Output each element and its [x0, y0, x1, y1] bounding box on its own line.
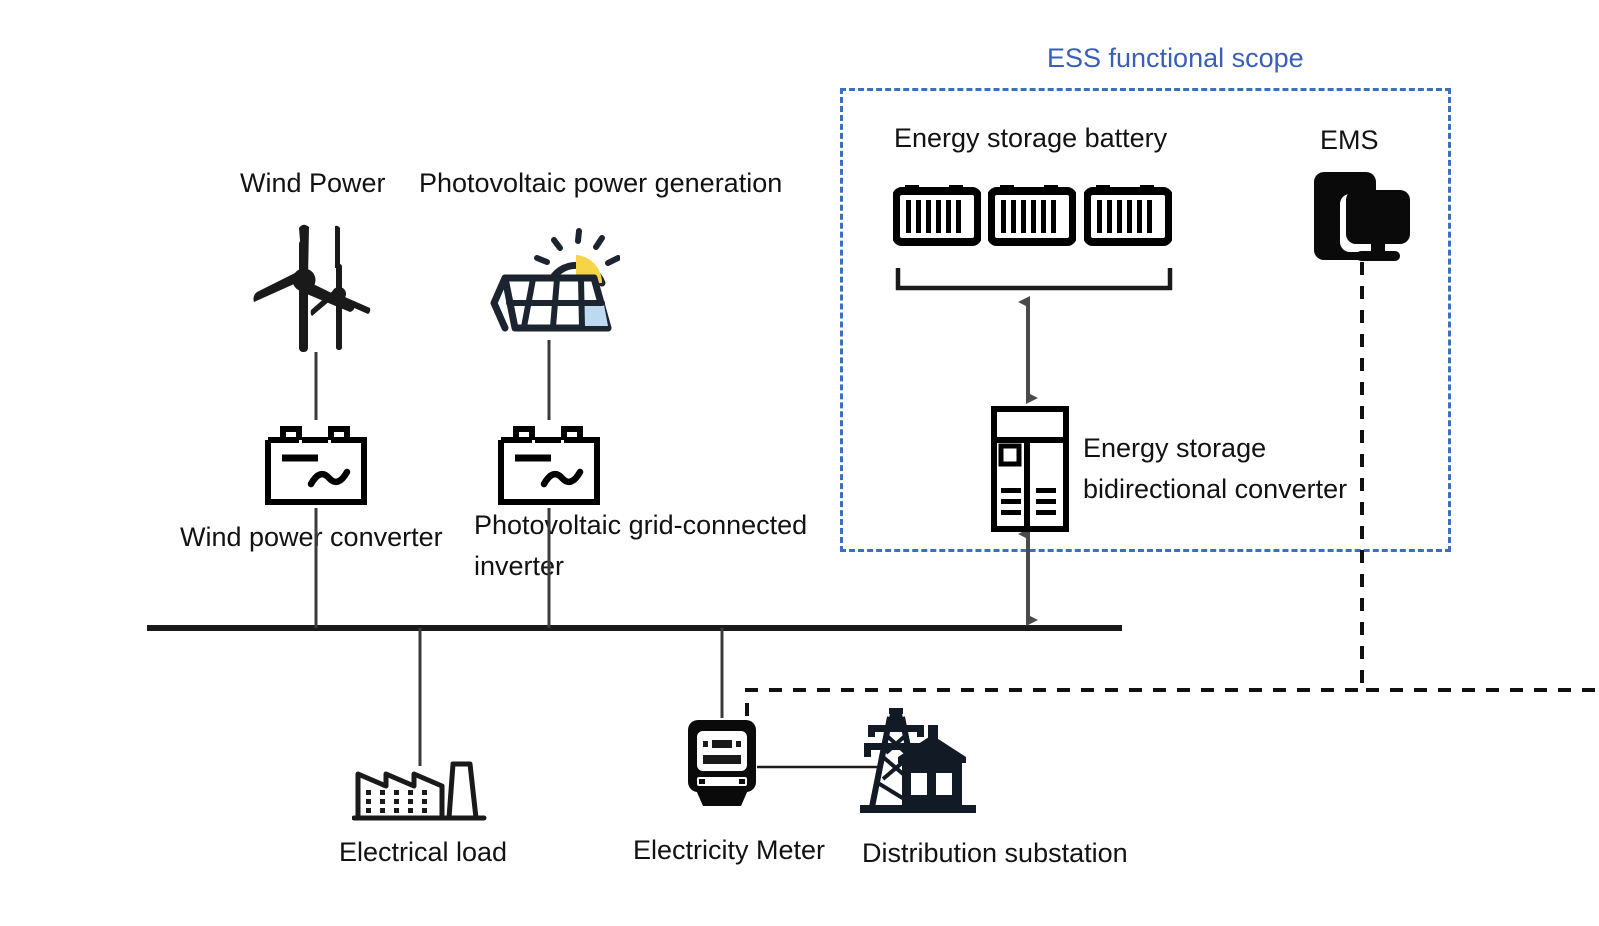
- distribution-substation-icon: [856, 705, 984, 817]
- ems-control-dashed-line: [1362, 262, 1599, 690]
- solar-panel-icon: [480, 225, 620, 340]
- electricity-meter-icon: [686, 718, 758, 810]
- battery-icon-2: [988, 180, 1076, 246]
- converter-box-icon-pv: [496, 420, 602, 508]
- wind-turbine-icon: [252, 222, 380, 352]
- factory-icon: [352, 760, 488, 822]
- battery-icon-1: [893, 180, 981, 246]
- diagram-canvas: ESS functional scope Wind Power Photovol…: [0, 0, 1599, 926]
- connection-lines-layer: [0, 0, 1599, 926]
- ems-computer-icon: [1308, 168, 1414, 264]
- battery-icon-3: [1084, 180, 1172, 246]
- battery-bracket: [898, 268, 1170, 288]
- converter-box-icon-wind: [263, 420, 369, 508]
- bidirectional-converter-icon: [991, 406, 1069, 532]
